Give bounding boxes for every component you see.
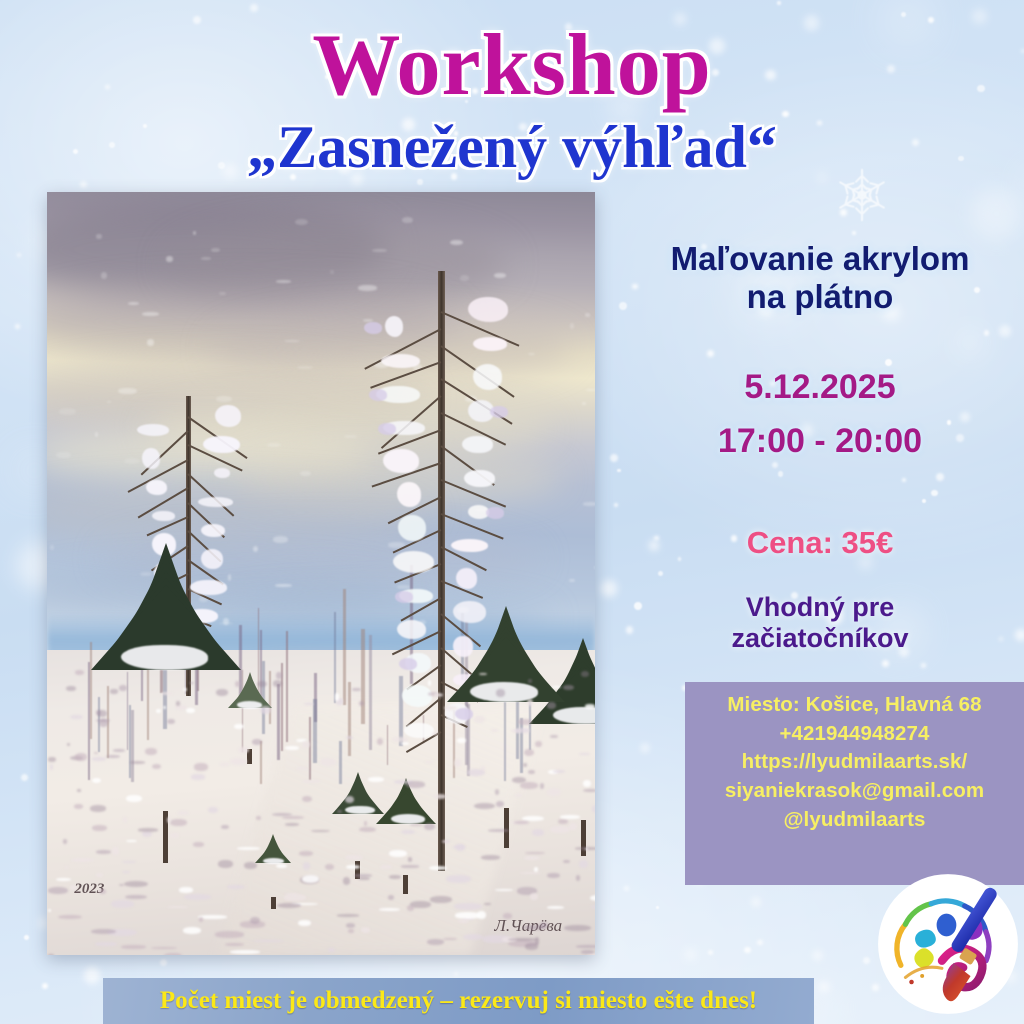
artwork-snow-clump [404, 723, 434, 738]
workshop-date: 5.12.2025 [618, 368, 1022, 407]
artwork-brush-dab [142, 312, 159, 316]
artwork-snow-clump [198, 497, 234, 507]
artwork-background-brush [277, 684, 280, 760]
artwork-brush-dab [170, 819, 187, 826]
snow-dot [852, 231, 856, 235]
artwork-brush-dab [276, 280, 292, 283]
snow-dot [80, 181, 87, 188]
artwork-brush-dab [429, 866, 446, 871]
artwork-brush-dab [368, 777, 383, 782]
snow-dot [24, 935, 29, 940]
artwork-brush-dab [96, 850, 111, 854]
artwork-brush-dab [126, 795, 142, 802]
artwork-brush-dab [56, 452, 70, 458]
artwork-brush-dab [48, 909, 51, 912]
artwork-brush-dab [215, 931, 243, 938]
artwork-brush-dab [576, 945, 595, 948]
artwork-brush-dab [164, 953, 182, 955]
artwork-brush-dab [479, 673, 487, 676]
snow-dot [960, 412, 970, 422]
snow-dot [959, 331, 981, 353]
artwork-brush-dab [176, 701, 180, 705]
artwork-snow-clump [381, 354, 420, 368]
artwork-brush-dab [302, 796, 312, 802]
snow-dot [640, 743, 651, 754]
artwork-brush-dab [547, 906, 565, 909]
artwork-brush-dab [579, 860, 588, 867]
snow-dot [601, 580, 617, 596]
artwork-brush-dab [90, 805, 106, 812]
snow-dot [21, 457, 48, 484]
artwork-snow-clump [462, 436, 493, 454]
snow-dot [921, 663, 926, 668]
artwork-brush-dab [361, 927, 370, 933]
snow-dot [84, 967, 100, 983]
snow-dot [42, 983, 48, 989]
artwork-brush-dab [151, 947, 177, 949]
artwork-brush-dab [515, 794, 522, 797]
artwork-snow-clump [395, 591, 413, 603]
artwork-brush-dab [199, 917, 204, 922]
artwork-brush-dab [518, 719, 532, 725]
artwork-brush-dab [92, 778, 102, 783]
artwork-brush-dab [407, 905, 415, 911]
artwork-brush-dab [515, 728, 530, 733]
artwork-brush-dab [111, 900, 134, 907]
artwork-brush-dab [344, 435, 357, 438]
artwork-brush-dab [358, 877, 369, 880]
artwork-brush-dab [392, 737, 408, 742]
artwork-brush-dab [237, 847, 260, 850]
artwork-brush-dab [358, 285, 377, 291]
artwork-brush-dab [330, 270, 334, 274]
artwork-brush-dab [540, 783, 544, 789]
bottom-cta-text: Počet miest je obmedzený – rezervuj si m… [160, 987, 757, 1015]
artwork-brush-dab [167, 906, 188, 908]
workshop-audience-line1: Vhodný pre [618, 592, 1022, 623]
artwork-brush-dab [547, 788, 561, 796]
artwork-brush-dab [454, 903, 482, 910]
artwork-brush-dab [296, 767, 308, 770]
artwork-background-brush [286, 631, 287, 742]
artwork-brush-dab [95, 942, 117, 946]
artwork-brush-dab [99, 889, 105, 894]
artwork-brush-dab [389, 875, 401, 879]
artwork-brush-dab [569, 823, 578, 830]
artwork-snow-clump [473, 337, 506, 350]
artwork-brush-dab [75, 670, 83, 675]
artwork-brush-dab [50, 545, 53, 550]
artwork-photo: 2023 Л.Чарёва [47, 192, 595, 955]
artwork-brush-dab [530, 893, 538, 900]
artwork-brush-dab [276, 864, 287, 868]
artwork-brush-dab [528, 679, 532, 682]
artwork-brush-dab [48, 887, 68, 894]
artwork-background-brush [361, 629, 365, 724]
artwork-brush-dab [560, 815, 580, 819]
artwork-brush-dab [481, 855, 501, 860]
artwork-brush-dab [576, 875, 580, 880]
artwork-brush-dab [359, 827, 375, 832]
artwork-brush-dab [110, 689, 117, 694]
artwork-brush-dab [467, 769, 485, 776]
artwork-snow-clump [397, 620, 426, 639]
artwork-snow-clump [152, 511, 174, 521]
artwork-spruce-tree [91, 533, 241, 863]
paint-blob-blue [937, 914, 957, 937]
artwork-tree-trunk [403, 875, 408, 894]
artwork-brush-dab [225, 943, 244, 946]
workshop-subject: Maľovanie akrylom na plátno [618, 240, 1022, 316]
artwork-brush-dab [343, 877, 350, 885]
artwork-brush-dab [276, 672, 281, 679]
artwork-brush-dab [273, 680, 282, 686]
snow-dot [17, 253, 21, 257]
artwork-brush-dab [92, 825, 107, 831]
snow-dot [936, 473, 944, 481]
artwork-brush-dab [94, 752, 98, 754]
contact-phone[interactable]: +421944948274 [685, 720, 1024, 749]
artwork-brush-dab [550, 826, 569, 833]
artwork-brush-dab [260, 706, 271, 714]
artwork-snow-clump [215, 405, 241, 427]
artwork-brush-dab [379, 908, 400, 911]
artwork-brush-dab [147, 339, 154, 345]
artwork-brush-dab [184, 894, 212, 900]
snow-dot [610, 454, 618, 462]
page-subtitle: „Zasnežený výhľad“ [0, 116, 1024, 179]
artwork-brush-dab [235, 681, 239, 687]
artwork-brush-dab [167, 719, 175, 724]
artwork-brush-dab [304, 703, 314, 705]
snow-dot [863, 957, 870, 964]
artwork-brush-dab [454, 759, 461, 767]
artwork-brush-dab [581, 671, 589, 677]
artwork-brush-dab [96, 234, 101, 239]
artwork-brush-dab [320, 758, 337, 766]
snow-dot [971, 188, 1022, 239]
artwork-snow-clump [203, 436, 240, 453]
artwork-brush-dab [238, 747, 249, 753]
artwork-canvas: 2023 Л.Чарёва [47, 192, 595, 955]
artwork-brush-dab [547, 873, 560, 878]
artwork-brush-dab [179, 887, 193, 892]
workshop-price: Cena: 35€ [618, 525, 1022, 561]
artwork-brush-dab [527, 699, 533, 706]
snow-dot [685, 949, 696, 960]
artwork-brush-dab [208, 807, 218, 813]
contact-info-box: Miesto: Košice, Hlavná 68 +421944948274 … [685, 682, 1024, 885]
artwork-brush-dab [138, 828, 158, 831]
artwork-brush-dab [579, 753, 590, 755]
artwork-brush-dab [48, 954, 54, 955]
artwork-brush-dab [302, 780, 320, 783]
contact-email[interactable]: siyaniekrasok@gmail.com [685, 777, 1024, 806]
artwork-brush-dab [201, 257, 211, 260]
artwork-snow-clump [398, 515, 425, 541]
artwork-brush-dab [130, 761, 145, 764]
artwork-brush-dab [348, 929, 353, 933]
artwork-snow-clump [383, 449, 418, 473]
artwork-snow-clump [137, 424, 169, 436]
artwork-brush-dab [234, 724, 243, 729]
snow-dot [617, 469, 620, 472]
artwork-background-brush [343, 589, 346, 705]
artwork-brush-dab [581, 950, 593, 954]
artwork-brush-dab [277, 903, 301, 908]
artwork-brush-dab [119, 685, 127, 691]
artwork-brush-dab [216, 689, 228, 695]
artwork-brush-dab [550, 735, 559, 737]
artwork-brush-dab [535, 741, 542, 748]
artwork-brush-dab [583, 780, 591, 787]
artwork-brush-dab [335, 693, 339, 700]
artwork-brush-dab [285, 823, 299, 826]
artwork-brush-dab [77, 789, 82, 791]
snow-dot [778, 471, 783, 476]
artwork-brush-dab [352, 688, 361, 691]
artwork-background-brush [369, 635, 372, 750]
artwork-brush-dab [166, 256, 173, 262]
artwork-brush-dab [121, 945, 146, 949]
snow-dot [757, 940, 762, 945]
artwork-brush-dab [508, 938, 538, 941]
artwork-brush-dab [298, 920, 310, 926]
artwork-brush-dab [523, 763, 527, 767]
artwork-brush-dab [302, 875, 320, 883]
snow-dot [901, 12, 906, 17]
artwork-brush-dab [75, 753, 88, 761]
artwork-brush-dab [402, 217, 413, 223]
snow-dot [417, 179, 423, 185]
artwork-brush-dab [337, 914, 360, 917]
snow-dot [902, 478, 906, 482]
snow-dot [922, 499, 926, 503]
artwork-brush-dab [48, 757, 56, 762]
snow-dot [658, 571, 663, 576]
artwork-brush-dab [364, 821, 367, 826]
artwork-brush-dab [128, 302, 140, 305]
artwork-brush-dab [408, 857, 412, 862]
snow-dot [160, 959, 167, 966]
artwork-brush-dab [553, 770, 564, 773]
artwork-brush-dab [303, 862, 310, 870]
artwork-snow-clump [263, 858, 284, 864]
artwork-brush-dab [112, 847, 119, 854]
snow-dot [882, 660, 889, 667]
artwork-brush-dab [496, 689, 505, 696]
snow-dot [624, 886, 628, 890]
snow-dot [614, 503, 618, 507]
artwork-brush-dab [256, 816, 261, 821]
artwork-brush-dab [477, 911, 486, 918]
artwork-brush-dab [532, 829, 544, 836]
workshop-subject-line1: Maľovanie akrylom [618, 240, 1022, 278]
artwork-brush-dab [122, 871, 130, 873]
artwork-brush-dab [552, 686, 562, 688]
artwork-brush-dab [457, 738, 466, 743]
artwork-brush-dab [446, 875, 471, 883]
artwork-brush-dab [299, 851, 313, 856]
workshop-subject-line2: na plátno [618, 278, 1022, 316]
artwork-brush-dab [432, 732, 438, 735]
artwork-brush-dab [496, 801, 504, 807]
artwork-brush-dab [70, 885, 77, 890]
snow-dot [819, 982, 829, 992]
contact-website[interactable]: https://lyudmilaarts.sk/ [685, 748, 1024, 777]
contact-venue: Miesto: Košice, Hlavná 68 [685, 691, 1024, 720]
artwork-brush-dab [106, 755, 120, 758]
artwork-brush-dab [191, 774, 204, 780]
artwork-brush-dab [430, 896, 451, 903]
snow-dot [813, 951, 823, 961]
contact-social[interactable]: @lyudmilaarts [685, 806, 1024, 835]
artwork-brush-dab [583, 789, 595, 792]
artwork-snow-clump [464, 470, 494, 487]
artwork-brush-dab [434, 693, 443, 697]
artwork-brush-dab [284, 894, 306, 901]
artwork-brush-dab [444, 706, 457, 710]
artwork-brush-dab [547, 702, 556, 708]
artwork-brush-dab [456, 844, 465, 851]
snow-dot [984, 330, 989, 335]
artwork-brush-dab [297, 366, 313, 369]
artwork-background-brush [387, 725, 389, 765]
artwork-snow-clump [146, 480, 166, 495]
artwork-brush-dab [474, 716, 485, 723]
snow-dot [21, 774, 28, 781]
artwork-snow-clump [391, 814, 426, 823]
artwork-brush-dab [585, 704, 595, 708]
artwork-brush-dab [156, 709, 161, 713]
artwork-snow-clump [451, 539, 488, 552]
artwork-background-brush [348, 682, 351, 756]
poster-canvas: Workshop „Zasnežený výhľad“ 2023 Л.Чарёв… [0, 0, 1024, 1024]
artwork-brush-dab [193, 842, 204, 846]
artwork-snow-clump [142, 448, 160, 469]
artwork-brush-dab [99, 719, 107, 726]
artwork-snow-clump [121, 645, 207, 671]
artwork-brush-dab [56, 878, 71, 881]
artwork-snow-clump [486, 507, 504, 519]
artwork-snow-clump [369, 389, 387, 401]
artwork-tree-trunk [504, 808, 509, 848]
artwork-brush-dab [450, 240, 463, 245]
artwork-brush-dab [59, 408, 76, 415]
artwork-brush-dab [67, 743, 70, 746]
artwork-brush-dab [359, 701, 364, 706]
artwork-brush-dab [163, 706, 166, 709]
artwork-snow-clump [402, 685, 432, 707]
artwork-brush-dab [503, 913, 512, 918]
snow-dot [708, 950, 714, 956]
snow-dot [931, 490, 938, 497]
artwork-brush-dab [186, 708, 195, 713]
artwork-brush-dab [495, 789, 499, 795]
artwork-brush-dab [96, 873, 103, 877]
artwork-brush-dab [218, 860, 233, 868]
artwork-snow-clump [214, 468, 230, 479]
snow-dot [707, 350, 714, 357]
artwork-brush-dab [346, 865, 361, 869]
artwork-brush-dab [252, 739, 262, 745]
artwork-brush-dab [145, 748, 157, 754]
artwork-snow-clump [397, 482, 420, 507]
artwork-brush-dab [126, 840, 137, 843]
artwork-brush-dab [514, 821, 529, 824]
artwork-snow-clump [399, 658, 417, 670]
artwork-background-brush [309, 717, 311, 780]
artwork-brush-dab [427, 939, 444, 945]
artwork-snow-clump [378, 423, 396, 435]
artwork-brush-dab [406, 781, 424, 787]
artwork-brush-dab [563, 685, 574, 690]
snow-dot [744, 947, 751, 954]
artwork-brush-dab [564, 925, 591, 931]
snow-dot [772, 462, 778, 468]
artwork-brush-dab [524, 749, 535, 756]
artwork-snow-clump [364, 322, 382, 334]
brand-logo [872, 868, 1024, 1020]
artwork-brush-dab [221, 825, 229, 829]
artwork-snow-clump [473, 364, 502, 389]
workshop-audience: Vhodný pre začiatočníkov [618, 592, 1022, 654]
bottom-cta-banner: Počet miest je obmedzený – rezervuj si m… [103, 978, 814, 1024]
artwork-snow-clump [468, 297, 508, 322]
page-title: Workshop [0, 22, 1024, 110]
snow-dot [454, 972, 458, 976]
workshop-time: 17:00 - 20:00 [618, 422, 1022, 461]
artwork-brush-dab [74, 804, 83, 808]
artwork-brush-dab [183, 927, 201, 934]
snow-dot [751, 897, 761, 907]
artwork-brush-dab [380, 865, 392, 869]
artwork-brush-dab [401, 865, 419, 867]
artwork-brush-dab [58, 915, 82, 919]
artwork-brush-dab [161, 692, 173, 695]
artwork-brush-dab [345, 855, 364, 860]
artwork-brush-dab [491, 729, 498, 731]
artwork-brush-dab [96, 710, 101, 715]
artwork-background-brush [334, 612, 337, 703]
artwork-snow-clump [385, 316, 404, 337]
artwork-brush-dab [92, 757, 106, 761]
artwork-brush-dab [273, 536, 288, 543]
snow-dot [777, 1, 782, 6]
snow-dot [656, 906, 659, 909]
artwork-brush-dab [244, 862, 257, 869]
artwork-brush-dab [346, 923, 356, 927]
artwork-tree-trunk [271, 897, 276, 909]
artwork-brush-dab [592, 805, 595, 812]
artwork-brush-dab [230, 950, 260, 953]
artwork-brush-dab [328, 948, 335, 952]
artwork-brush-dab [488, 829, 509, 832]
artwork-brush-dab [585, 848, 588, 850]
artwork-snow-clump [456, 568, 477, 589]
artwork-brush-dab [91, 929, 116, 934]
artwork-brush-dab [101, 272, 107, 279]
artwork-brush-dab [520, 782, 538, 789]
artwork-brush-dab [170, 833, 178, 838]
artwork-snow-clump [393, 551, 434, 572]
snow-dot [885, 359, 892, 366]
snow-dot [999, 325, 1011, 337]
workshop-audience-line2: začiatočníkov [618, 623, 1022, 654]
artwork-brush-dab [194, 763, 207, 771]
artwork-brush-dab [66, 686, 76, 691]
snow-dot [15, 324, 20, 329]
